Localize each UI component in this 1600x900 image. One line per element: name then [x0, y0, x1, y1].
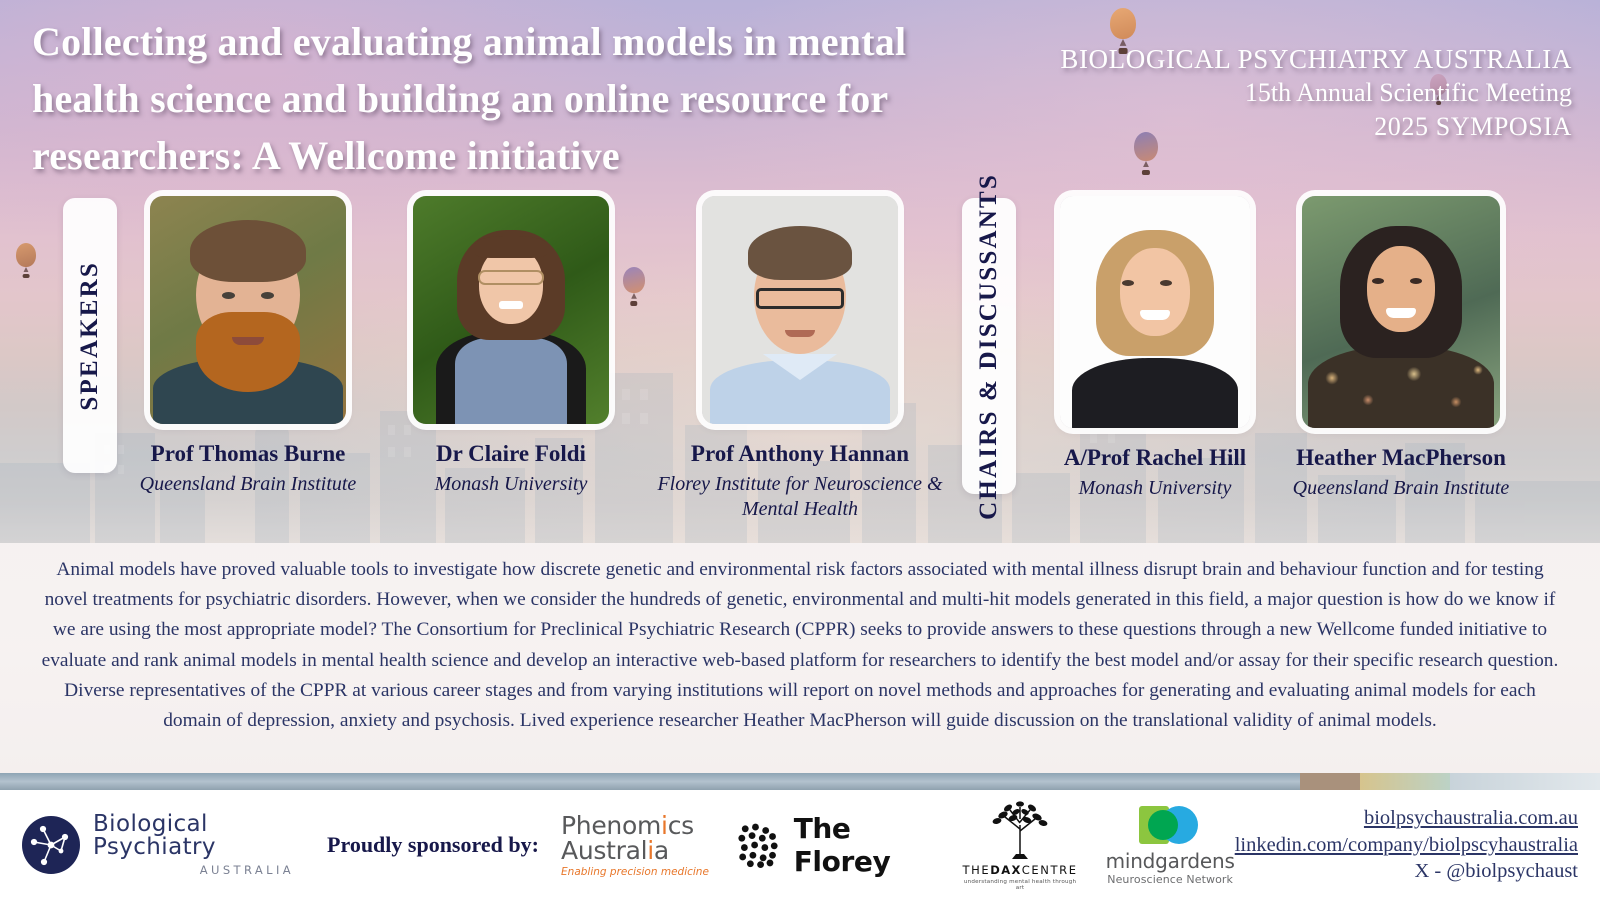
organisation-name: BIOLOGICAL PSYCHIATRY AUSTRALIA — [1060, 42, 1572, 76]
photo-strip-divider — [0, 773, 1600, 790]
speaker-affiliation: Queensland Brain Institute — [128, 472, 368, 498]
chair-name: Heather MacPherson — [1282, 445, 1520, 471]
glasses-icon — [756, 288, 844, 309]
contact-links: biolpsychaustralia.com.au linkedin.com/c… — [1235, 805, 1578, 885]
bpa-name-line2: AUSTRALIA — [93, 863, 294, 877]
speaker-card: Prof Thomas Burne Queensland Brain Insti… — [128, 196, 368, 497]
dax-tagline: understanding mental health through art — [963, 879, 1078, 891]
torso — [1072, 358, 1238, 428]
glasses-icon — [478, 270, 544, 285]
avatar — [150, 196, 346, 424]
meeting-info: BIOLOGICAL PSYCHIATRY AUSTRALIA 15th Ann… — [1060, 42, 1572, 144]
speaker-name: Prof Anthony Hannan — [655, 441, 945, 467]
sponsor-logo-the-florey[interactable]: The Florey — [735, 812, 933, 878]
avatar — [1060, 196, 1250, 428]
vest — [455, 338, 567, 424]
neuron-network-icon — [22, 816, 80, 874]
mouth — [785, 330, 815, 337]
dax-wordmark: THEDAXCENTRE — [963, 863, 1078, 877]
abstract-panel: Animal models have proved valuable tools… — [0, 543, 1600, 773]
floral-pattern — [1310, 350, 1490, 424]
eye-right — [261, 292, 274, 299]
speaker-card: Dr Claire Foldi Monash University — [400, 196, 622, 497]
speaker-card: Prof Anthony Hannan Florey Institute for… — [655, 196, 945, 523]
sponsor-logo-mindgardens[interactable]: mindgardens Neuroscience Network — [1106, 804, 1235, 886]
chair-affiliation: Queensland Brain Institute — [1282, 476, 1520, 502]
hair — [190, 220, 306, 282]
mindgardens-wordmark: mindgardens — [1106, 849, 1235, 873]
eye-right — [1160, 280, 1172, 286]
eye-right — [1410, 278, 1422, 284]
speaker-name: Dr Claire Foldi — [400, 441, 622, 467]
florey-dot-matrix-icon — [735, 817, 783, 873]
speaker-affiliation: Florey Institute for Neuroscience & Ment… — [655, 472, 945, 523]
section-label-chairs-text: CHAIRS & DISCUSSANTS — [975, 173, 1003, 520]
mouth — [1386, 308, 1416, 318]
sponsor-label: Proudly sponsored by: — [327, 832, 539, 858]
avatar — [702, 196, 898, 424]
page-title: Collecting and evaluating animal models … — [32, 14, 962, 184]
chair-affiliation: Monash University — [1040, 476, 1270, 502]
sponsor-logo-phenomics-australia[interactable]: Phenomics Australia Enabling precision m… — [557, 813, 709, 878]
sponsor-logo-dax-centre[interactable]: THEDAXCENTRE understanding mental health… — [963, 799, 1078, 891]
mindgardens-subtitle: Neuroscience Network — [1107, 873, 1233, 886]
section-label-speakers: SPEAKERS — [63, 198, 117, 473]
mouth — [499, 301, 523, 309]
eye-left — [1122, 280, 1134, 286]
footer-bar: Biological Psychiatry AUSTRALIA Proudly … — [0, 790, 1600, 900]
link-linkedin[interactable]: linkedin.com/company/biolpscyhaustralia — [1235, 832, 1578, 859]
eye-left — [222, 292, 235, 299]
avatar — [1302, 196, 1500, 428]
beard — [196, 312, 300, 392]
bpa-name-line1: Biological Psychiatry — [93, 813, 294, 859]
face-front — [1367, 246, 1435, 332]
bpa-wordmark: Biological Psychiatry AUSTRALIA — [93, 813, 294, 877]
section-label-speakers-text: SPEAKERS — [76, 261, 104, 411]
phenomics-tagline: Enabling precision medicine — [561, 866, 709, 878]
florey-wordmark: The Florey — [794, 812, 933, 878]
balloon-icon — [1110, 8, 1136, 42]
avatar — [413, 196, 609, 424]
link-website[interactable]: biolpsychaustralia.com.au — [1235, 805, 1578, 832]
balloon-icon — [16, 243, 36, 269]
phenomics-line1: Phenomics — [561, 813, 709, 838]
chair-card: Heather MacPherson Queensland Brain Inst… — [1282, 196, 1520, 501]
mouth — [232, 337, 264, 345]
face-front — [1120, 248, 1190, 336]
section-label-chairs: CHAIRS & DISCUSSANTS — [962, 198, 1016, 494]
speaker-name: Prof Thomas Burne — [128, 441, 368, 467]
abstract-text: Animal models have proved valuable tools… — [36, 555, 1564, 736]
mouth — [1140, 310, 1170, 320]
hero-banner: Collecting and evaluating animal models … — [0, 0, 1600, 543]
speaker-affiliation: Monash University — [400, 472, 622, 498]
eye-left — [1372, 278, 1384, 284]
meeting-edition: 15th Annual Scientific Meeting — [1060, 76, 1572, 110]
phenomics-line2: Australia — [561, 838, 709, 863]
fringe — [475, 236, 547, 258]
meeting-year: 2025 SYMPOSIA — [1060, 110, 1572, 144]
mindgardens-circles-icon — [1133, 804, 1207, 846]
hair — [748, 226, 852, 280]
chair-card: A/Prof Rachel Hill Monash University — [1040, 196, 1270, 501]
link-x-handle[interactable]: X - @biolpsychaust — [1235, 858, 1578, 885]
dax-tree-icon — [983, 799, 1057, 861]
balloon-icon — [623, 267, 645, 296]
bpa-logo[interactable]: Biological Psychiatry AUSTRALIA — [22, 813, 294, 877]
chair-name: A/Prof Rachel Hill — [1040, 445, 1270, 471]
